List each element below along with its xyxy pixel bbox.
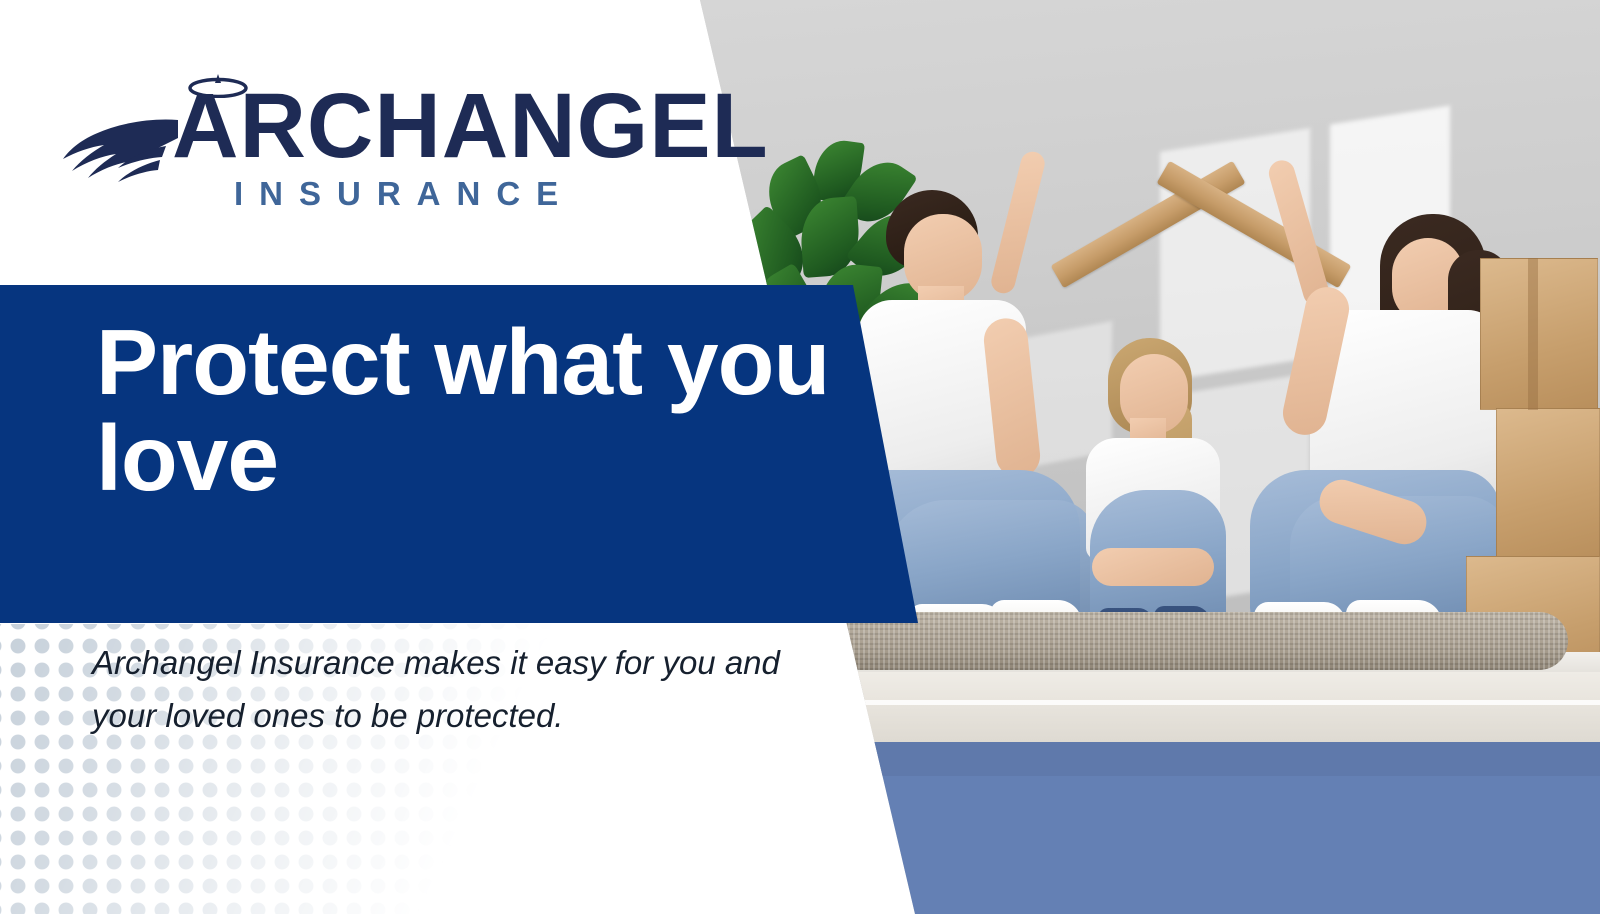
hero-subtext: Archangel Insurance makes it easy for yo… <box>92 636 782 743</box>
insurance-banner: ARCHANGEL INSURANCE Protect what you lov… <box>0 0 1600 914</box>
page-title: Protect what you love <box>96 315 856 507</box>
cardboard-roof <box>1035 55 1355 240</box>
logo-wordmark: ARCHANGEL <box>172 80 769 172</box>
bottom-blue-band <box>690 742 1600 914</box>
moving-box <box>1496 408 1600 560</box>
logo[interactable]: ARCHANGEL INSURANCE <box>62 80 682 230</box>
angel-wing-icon <box>62 116 180 188</box>
logo-tagline: INSURANCE <box>234 177 574 210</box>
headline-panel: Protect what you love <box>0 285 960 623</box>
floor <box>690 672 1600 742</box>
moving-box <box>1480 258 1598 410</box>
floor-highlight <box>690 700 1600 705</box>
